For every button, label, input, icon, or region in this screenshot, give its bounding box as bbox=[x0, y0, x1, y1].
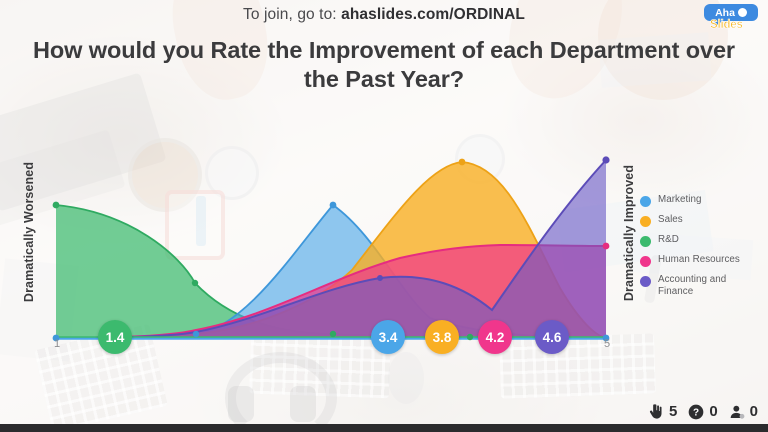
person-icon bbox=[729, 404, 745, 420]
data-point bbox=[603, 243, 610, 250]
raised-hand-icon bbox=[647, 403, 664, 420]
legend-item[interactable]: Human Resources bbox=[640, 254, 762, 267]
value-badge: 4.6 bbox=[535, 320, 569, 354]
chart-legend: MarketingSalesR&DHuman ResourcesAccounti… bbox=[640, 194, 762, 305]
question-count: 0 bbox=[709, 403, 717, 420]
axis-label-right: Dramatically Improved bbox=[622, 159, 636, 307]
data-point bbox=[377, 275, 383, 281]
bottom-bar bbox=[0, 424, 768, 432]
data-point bbox=[193, 331, 199, 337]
value-badge: 3.8 bbox=[425, 320, 459, 354]
legend-item[interactable]: Marketing bbox=[640, 194, 762, 207]
legend-item-label: Sales bbox=[658, 214, 683, 226]
presentation-slide: To join, go to: ahaslides.com/ORDINAL Ho… bbox=[0, 0, 768, 432]
question-mark-icon: ? bbox=[688, 404, 704, 420]
legend-color-dot bbox=[640, 236, 651, 247]
slide-footer-stats: 5 ? 0 0 bbox=[639, 403, 758, 420]
hand-count: 5 bbox=[669, 403, 677, 420]
data-point bbox=[467, 334, 473, 340]
svg-text:?: ? bbox=[693, 407, 699, 418]
legend-item-label: R&D bbox=[658, 234, 679, 246]
legend-item-label: Accounting and Finance bbox=[658, 274, 762, 298]
value-badge: 3.4 bbox=[371, 320, 405, 354]
legend-color-dot bbox=[640, 216, 651, 227]
legend-color-dot bbox=[640, 256, 651, 267]
person-count: 0 bbox=[750, 403, 758, 420]
legend-item-label: Marketing bbox=[658, 194, 701, 206]
value-badge: 4.2 bbox=[478, 320, 512, 354]
data-point bbox=[53, 202, 60, 209]
legend-color-dot bbox=[640, 196, 651, 207]
legend-item-label: Human Resources bbox=[658, 254, 740, 266]
axis-tick-min: 1 bbox=[54, 338, 60, 350]
legend-item[interactable]: Sales bbox=[640, 214, 762, 227]
data-point bbox=[192, 280, 198, 286]
legend-color-dot bbox=[640, 276, 651, 287]
data-point bbox=[330, 202, 337, 209]
data-point bbox=[330, 331, 336, 337]
axis-label-left: Dramatically Worsened bbox=[22, 156, 36, 308]
axis-tick-max: 5 bbox=[604, 338, 610, 350]
value-badge: 1.4 bbox=[98, 320, 132, 354]
legend-item[interactable]: Accounting and Finance bbox=[640, 274, 762, 298]
data-point bbox=[602, 156, 609, 163]
data-point bbox=[459, 159, 466, 166]
legend-item[interactable]: R&D bbox=[640, 234, 762, 247]
